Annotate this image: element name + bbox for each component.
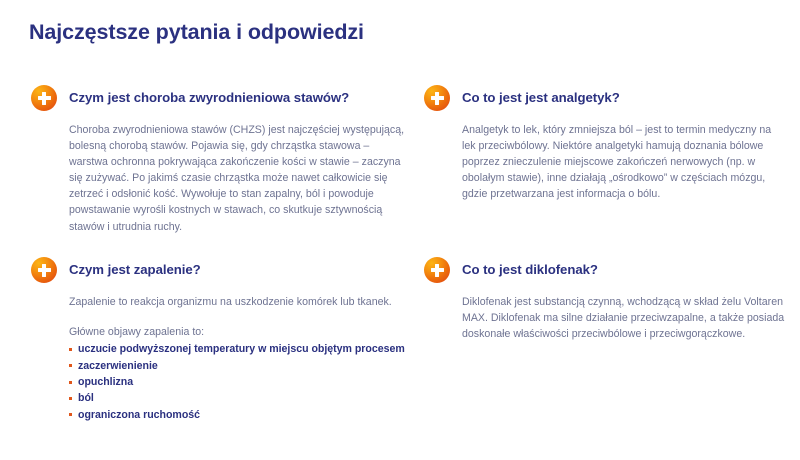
page-title: Najczęstsze pytania i odpowiedzi [29, 20, 364, 45]
faq-answer-body: Analgetyk to lek, który zmniejsza ból – … [462, 122, 786, 202]
faq-item-diklofenak[interactable]: Co to jest diklofenak? Diklofenak jest s… [424, 257, 786, 342]
plus-circle-icon[interactable] [424, 85, 450, 111]
faq-question-header[interactable]: Czym jest choroba zwyrodnieniowa stawów? [31, 85, 406, 111]
bullet-square-icon [69, 413, 72, 416]
list-item-label: opuchlizna [78, 376, 133, 388]
list-item: uczucie podwyższonej temperatury w miejs… [69, 341, 406, 357]
faq-question-header[interactable]: Co to jest diklofenak? [424, 257, 786, 283]
faq-answer-body: Zapalenie to reakcja organizmu na uszkod… [69, 294, 406, 423]
faq-question-header[interactable]: Co to jest jest analgetyk? [424, 85, 786, 111]
list-item-label: ograniczona ruchomość [78, 409, 200, 421]
faq-answer-paragraph: Choroba zwyrodnieniowa stawów (CHZS) jes… [69, 122, 406, 235]
faq-answer-paragraph: Analgetyk to lek, który zmniejsza ból – … [462, 122, 786, 202]
faq-question-label: Co to jest jest analgetyk? [462, 85, 620, 111]
faq-answer-body: Diklofenak jest substancją czynną, wchod… [462, 294, 786, 342]
plus-circle-icon[interactable] [31, 257, 57, 283]
faq-item-chzs[interactable]: Czym jest choroba zwyrodnieniowa stawów?… [31, 85, 406, 235]
bullet-square-icon [69, 348, 72, 351]
faq-question-label: Czym jest zapalenie? [69, 257, 201, 283]
list-item-label: zaczerwienienie [78, 360, 158, 372]
faq-answer-paragraph: Diklofenak jest substancją czynną, wchod… [462, 294, 786, 342]
faq-page: Najczęstsze pytania i odpowiedzi Czym je… [0, 0, 800, 460]
list-item: ograniczona ruchomość [69, 407, 406, 423]
list-item-label: uczucie podwyższonej temperatury w miejs… [78, 343, 405, 355]
faq-answer-paragraph: Zapalenie to reakcja organizmu na uszkod… [69, 294, 406, 310]
list-item: ból [69, 390, 406, 406]
faq-item-analgetyk[interactable]: Co to jest jest analgetyk? Analgetyk to … [424, 85, 786, 202]
bullet-square-icon [69, 381, 72, 384]
list-item: opuchlizna [69, 374, 406, 390]
faq-question-label: Czym jest choroba zwyrodnieniowa stawów? [69, 85, 349, 111]
faq-list-intro: Główne objawy zapalenia to: [69, 324, 406, 340]
plus-circle-icon[interactable] [424, 257, 450, 283]
bullet-square-icon [69, 397, 72, 400]
plus-circle-icon[interactable] [31, 85, 57, 111]
faq-question-label: Co to jest diklofenak? [462, 257, 598, 283]
bullet-square-icon [69, 364, 72, 367]
faq-answer-body: Choroba zwyrodnieniowa stawów (CHZS) jes… [69, 122, 406, 235]
faq-item-zapalenie[interactable]: Czym jest zapalenie? Zapalenie to reakcj… [31, 257, 406, 423]
list-item-label: ból [78, 392, 94, 404]
faq-question-header[interactable]: Czym jest zapalenie? [31, 257, 406, 283]
list-item: zaczerwienienie [69, 358, 406, 374]
symptom-list: uczucie podwyższonej temperatury w miejs… [69, 341, 406, 423]
